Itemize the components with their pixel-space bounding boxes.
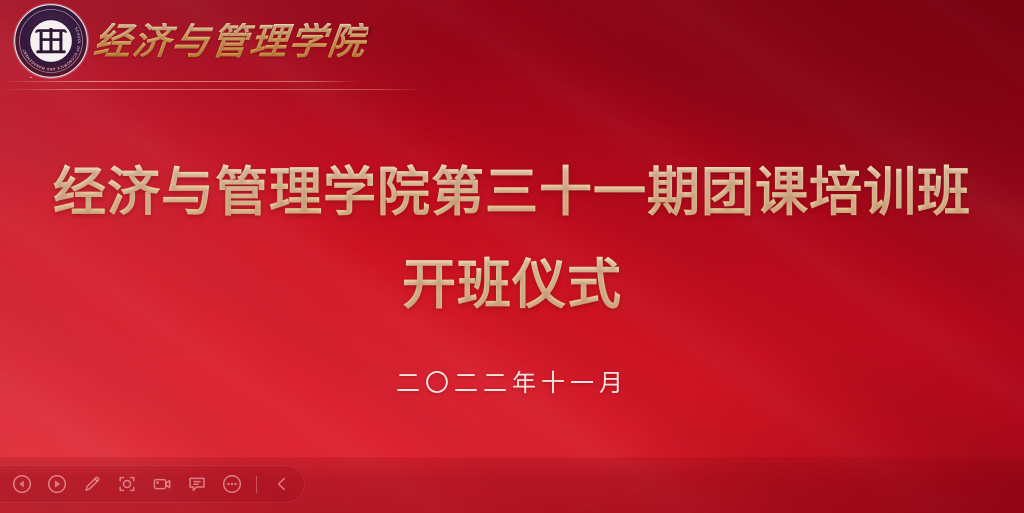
pen-annotate-icon[interactable] xyxy=(79,472,104,497)
header-divider-line-2 xyxy=(0,89,427,90)
slide-header: SCHOOL OF ECONOMICS AND MANAGEMENT 西安理工大… xyxy=(0,0,1024,96)
header-divider-line-1 xyxy=(0,81,362,82)
collapse-toolbar-icon[interactable] xyxy=(269,472,294,497)
laser-pointer-icon[interactable] xyxy=(114,472,139,497)
video-record-icon[interactable] xyxy=(149,472,174,497)
slide-date-text: 二〇二二年十一月 xyxy=(0,363,1024,398)
play-slide-button[interactable] xyxy=(44,472,69,497)
school-emblem-icon: SCHOOL OF ECONOMICS AND MANAGEMENT 西安理工大… xyxy=(14,4,88,78)
toolbar-divider xyxy=(256,476,257,493)
college-logo-block: SCHOOL OF ECONOMICS AND MANAGEMENT 西安理工大… xyxy=(14,4,367,78)
speaker-notes-icon[interactable] xyxy=(184,472,209,497)
college-name-text: 经济与管理学院 xyxy=(92,23,370,60)
previous-slide-button[interactable] xyxy=(9,472,34,497)
presentation-toolbar[interactable] xyxy=(0,465,305,503)
more-options-icon[interactable] xyxy=(219,472,244,497)
presentation-slide: SCHOOL OF ECONOMICS AND MANAGEMENT 西安理工大… xyxy=(0,0,1024,513)
slide-title-block: 经济与管理学院第三十一期团课培训班 开班仪式 xyxy=(0,146,1024,330)
title-line-1: 经济与管理学院第三十一期团课培训班 xyxy=(0,146,1024,238)
title-line-2: 开班仪式 xyxy=(0,238,1024,330)
